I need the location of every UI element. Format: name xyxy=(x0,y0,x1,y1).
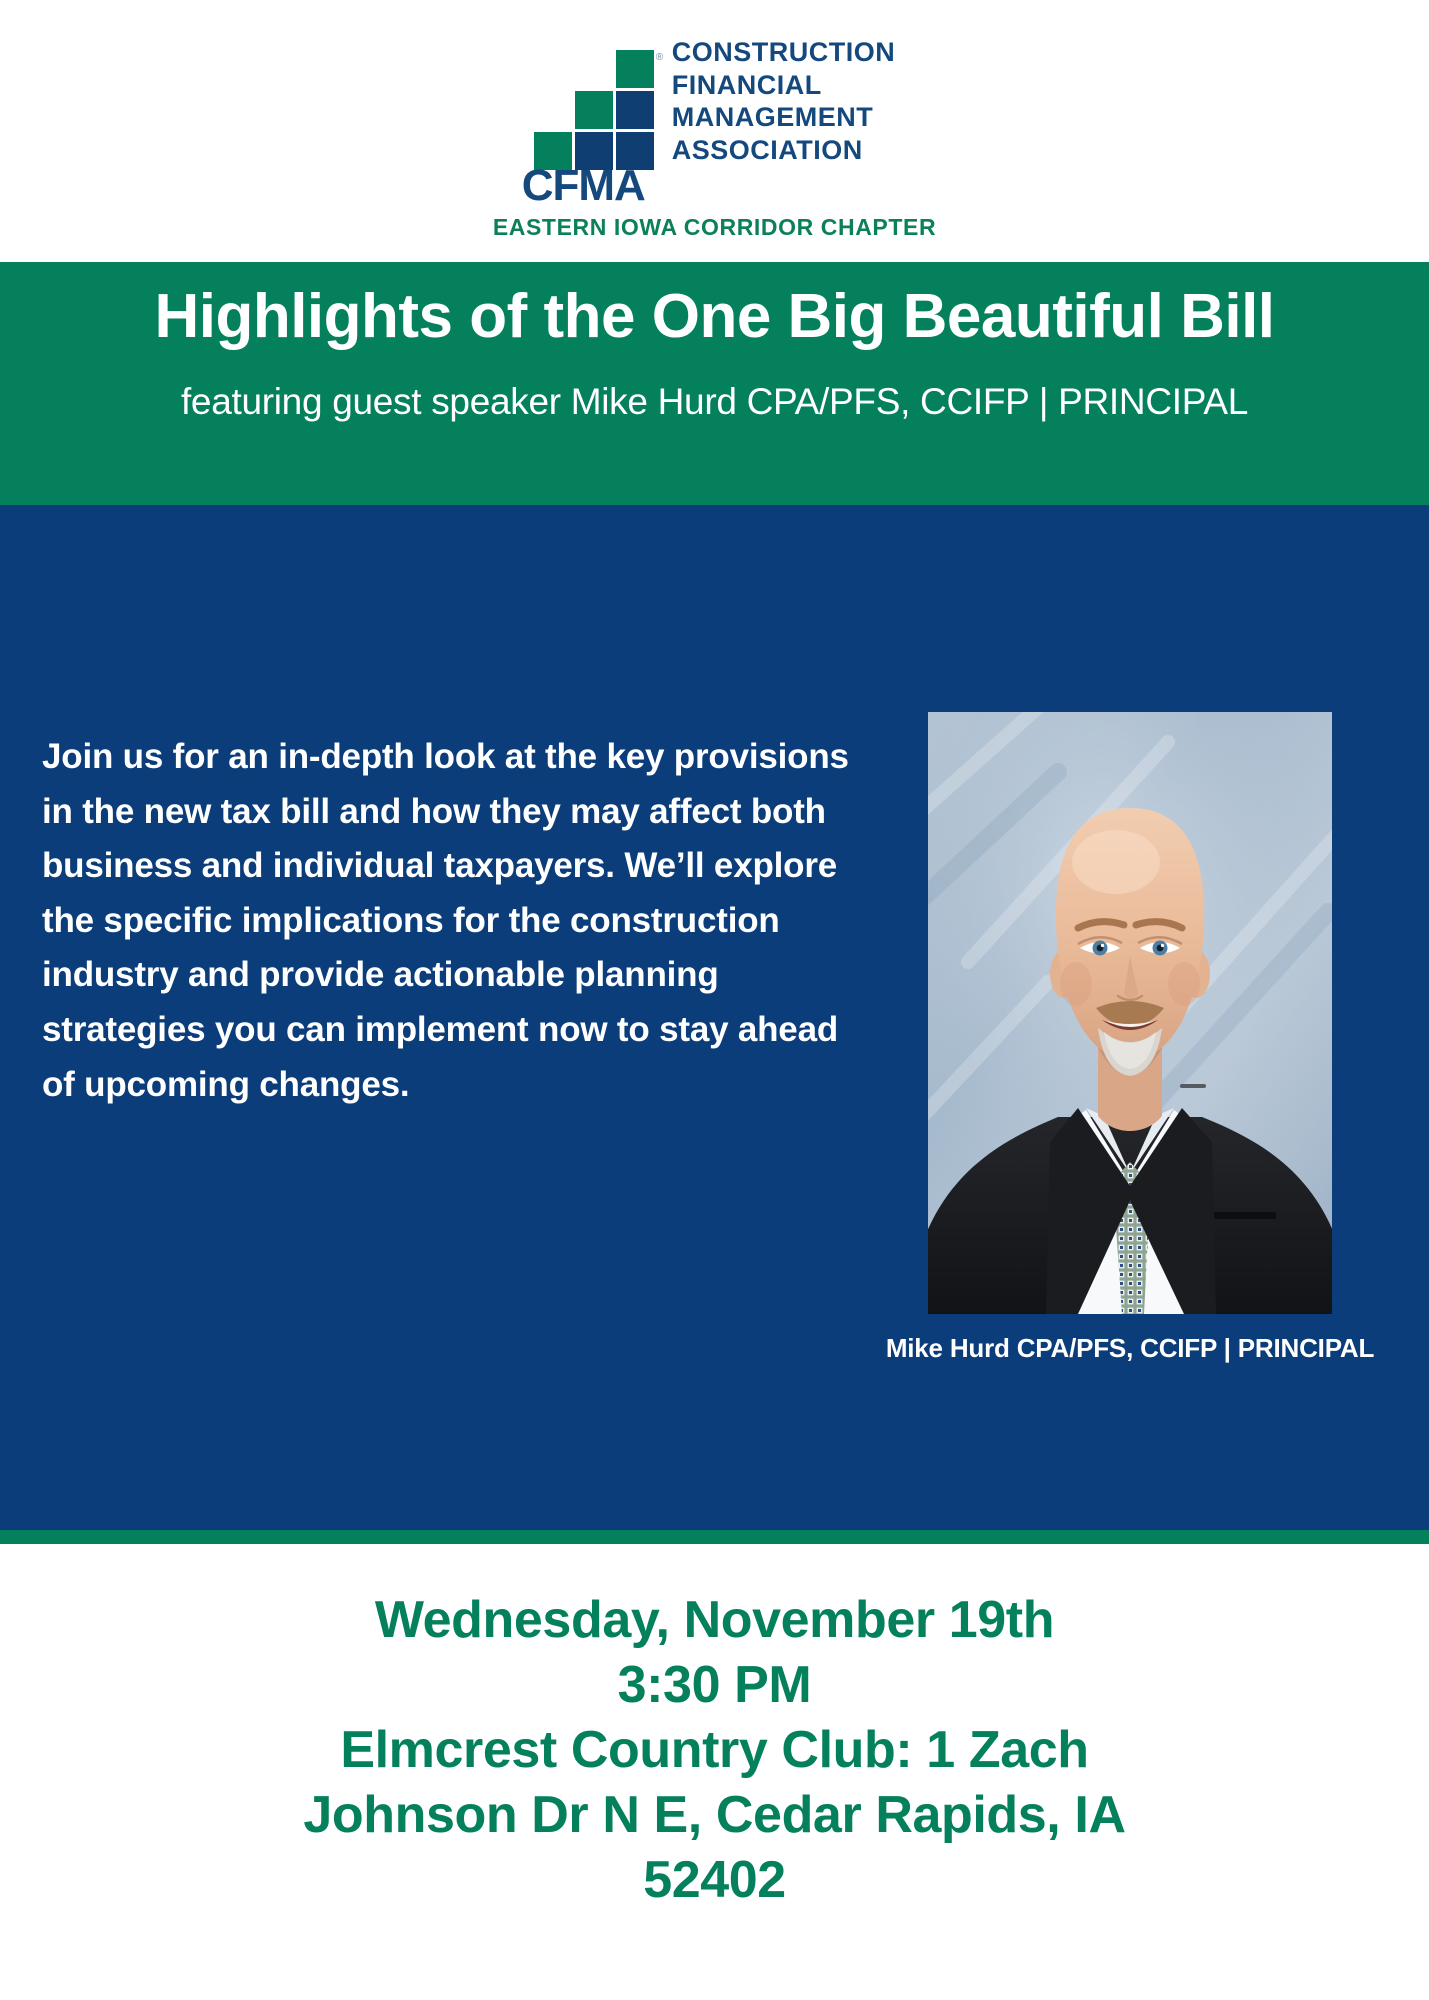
hero-subtitle: featuring guest speaker Mike Hurd CPA/PF… xyxy=(28,381,1401,424)
header: ® CFMA CONSTRUCTION FINANCIAL MANAGEMENT… xyxy=(0,0,1429,262)
event-details: Wednesday, November 19th 3:30 PM Elmcres… xyxy=(0,1588,1429,1913)
event-venue-line-2: Johnson Dr N E, Cedar Rapids, IA xyxy=(60,1783,1369,1848)
logo-word-management: MANAGEMENT xyxy=(672,103,896,133)
speaker-caption: Mike Hurd CPA/PFS, CCIFP | PRINCIPAL xyxy=(880,1331,1380,1366)
logo-block-grid: ® xyxy=(534,50,658,132)
registered-trademark-icon: ® xyxy=(656,52,663,63)
cfma-logo: ® CFMA CONSTRUCTION FINANCIAL MANAGEMENT… xyxy=(534,38,896,168)
section-divider xyxy=(0,1530,1429,1544)
logo-word-financial: FINANCIAL xyxy=(672,71,896,101)
logo-word-construction: CONSTRUCTION xyxy=(672,38,896,68)
event-flyer: ® CFMA CONSTRUCTION FINANCIAL MANAGEMENT… xyxy=(0,0,1429,2000)
speaker-portrait-image xyxy=(928,712,1332,1314)
logo-word-association: ASSOCIATION xyxy=(672,136,896,166)
logo-block-green-2 xyxy=(575,91,613,129)
cfma-logo-mark: ® CFMA xyxy=(534,50,658,168)
main-band: Join us for an in-depth look at the key … xyxy=(0,505,1429,1530)
footer: Wednesday, November 19th 3:30 PM Elmcres… xyxy=(0,1544,1429,2000)
event-description: Join us for an in-depth look at the key … xyxy=(42,730,862,1112)
logo-wordmark: CONSTRUCTION FINANCIAL MANAGEMENT ASSOCI… xyxy=(672,38,896,168)
event-venue-line-3: 52402 xyxy=(60,1848,1369,1913)
logo-block-blue-1 xyxy=(616,91,654,129)
event-time: 3:30 PM xyxy=(60,1653,1369,1718)
logo-acronym: CFMA xyxy=(522,164,645,208)
logo-block-green-1 xyxy=(616,50,654,88)
event-venue-line-1: Elmcrest Country Club: 1 Zach xyxy=(60,1718,1369,1783)
chapter-name: EASTERN IOWA CORRIDOR CHAPTER xyxy=(493,214,936,241)
page-title: Highlights of the One Big Beautiful Bill xyxy=(28,284,1401,351)
speaker-photo xyxy=(928,712,1332,1314)
event-date: Wednesday, November 19th xyxy=(60,1588,1369,1653)
hero-band: Highlights of the One Big Beautiful Bill… xyxy=(0,262,1429,505)
